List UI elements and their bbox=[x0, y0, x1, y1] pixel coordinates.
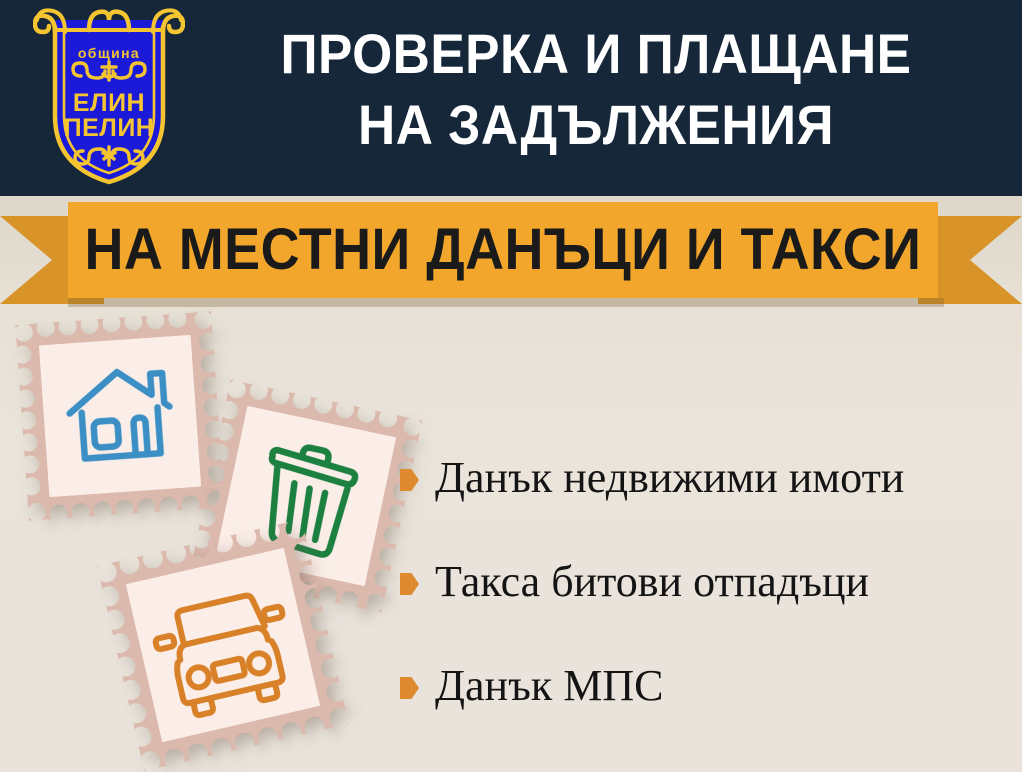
page-title: ПРОВЕРКА И ПЛАЩАНЕ НА ЗАДЪЛЖЕНИЯ bbox=[219, 18, 973, 160]
crest-text-obshtina: община bbox=[78, 45, 140, 61]
stamp-paper bbox=[39, 335, 201, 497]
bullet-arrow-icon bbox=[400, 573, 419, 595]
bullet-arrow-icon bbox=[400, 677, 419, 699]
ribbon-banner: НА МЕСТНИ ДАНЪЦИ И ТАКСИ bbox=[0, 196, 1022, 308]
tax-type-list: Данък недвижими имоти Такса битови отпад… bbox=[400, 426, 1010, 738]
ribbon-shadow bbox=[68, 298, 944, 307]
page-title-line-1: ПРОВЕРКА И ПЛАЩАНЕ bbox=[219, 18, 973, 89]
list-item[interactable]: Данък недвижими имоти bbox=[400, 426, 1010, 530]
crest-text-elin: ЕЛИН bbox=[73, 89, 145, 117]
list-item[interactable]: Такса битови отпадъци bbox=[400, 530, 1010, 634]
crest-text-pelin: ПЕЛИН bbox=[64, 114, 155, 142]
poster-root: община ЕЛИН ПЕЛИН ПРОВЕРКА И ПЛАЩАНЕ НА … bbox=[0, 0, 1022, 772]
list-item[interactable]: Данък МПС bbox=[400, 634, 1010, 738]
ribbon-body: НА МЕСТНИ ДАНЪЦИ И ТАКСИ bbox=[68, 202, 938, 298]
ribbon-label: НА МЕСТНИ ДАНЪЦИ И ТАКСИ bbox=[85, 221, 922, 279]
list-item-label: Такса битови отпадъци bbox=[435, 557, 869, 607]
coat-of-arms-crest: община ЕЛИН ПЕЛИН bbox=[33, 8, 185, 186]
bullet-arrow-icon bbox=[400, 469, 419, 491]
list-item-label: Данък недвижими имоти bbox=[435, 453, 904, 503]
stamp-card-property bbox=[15, 311, 224, 520]
list-item-label: Данък МПС bbox=[435, 661, 663, 711]
page-title-line-2: НА ЗАДЪЛЖЕНИЯ bbox=[219, 89, 973, 160]
